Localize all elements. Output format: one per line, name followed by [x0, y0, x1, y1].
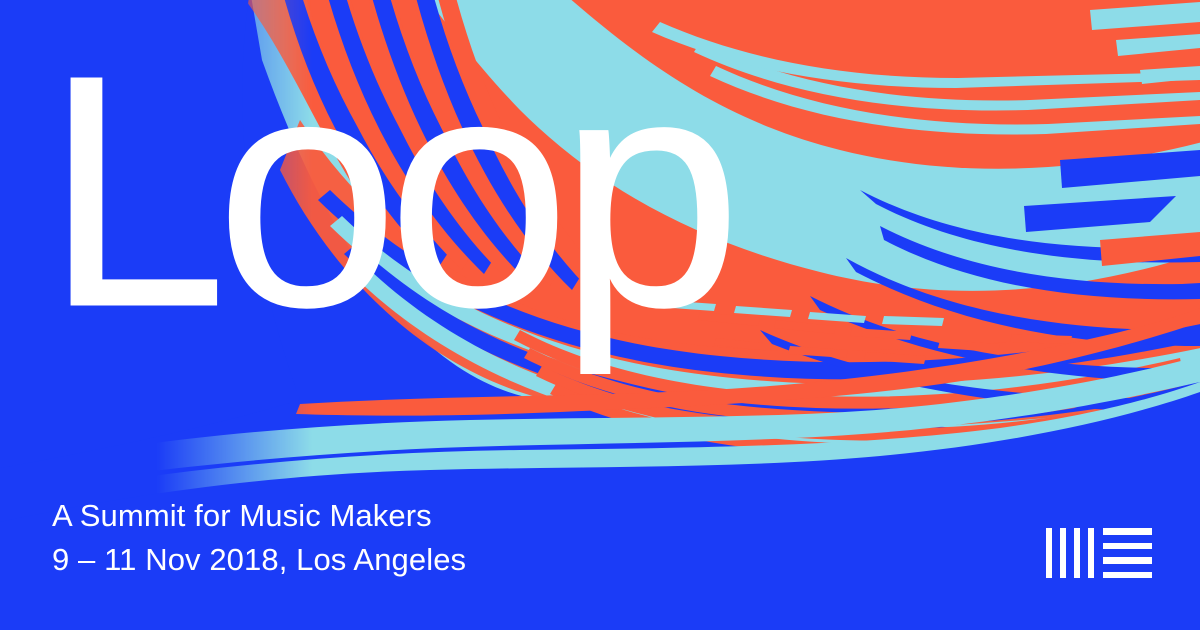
ableton-logo-hbar — [1103, 528, 1152, 535]
strapline-tagline: A Summit for Music Makers — [52, 494, 466, 538]
ableton-logo-hbar — [1103, 543, 1152, 550]
ableton-logo-vertical-bars — [1046, 528, 1094, 578]
page-title: Loop — [44, 26, 730, 356]
ableton-logo-vbar — [1074, 528, 1080, 578]
ableton-logo-vbar — [1046, 528, 1052, 578]
ableton-logo[interactable]: Ableton — [1046, 528, 1152, 578]
ableton-logo-vbar — [1060, 528, 1066, 578]
ableton-logo-hbar — [1103, 557, 1152, 564]
loop-event-poster: Loop A Summit for Music Makers 9 – 11 No… — [0, 0, 1200, 630]
ableton-logo-hbar — [1103, 572, 1152, 579]
strapline-date-location: 9 – 11 Nov 2018, Los Angeles — [52, 538, 466, 582]
ableton-logo-horizontal-bars — [1103, 528, 1152, 578]
ableton-logo-vbar — [1088, 528, 1094, 578]
event-strapline: A Summit for Music Makers 9 – 11 Nov 201… — [52, 494, 466, 582]
